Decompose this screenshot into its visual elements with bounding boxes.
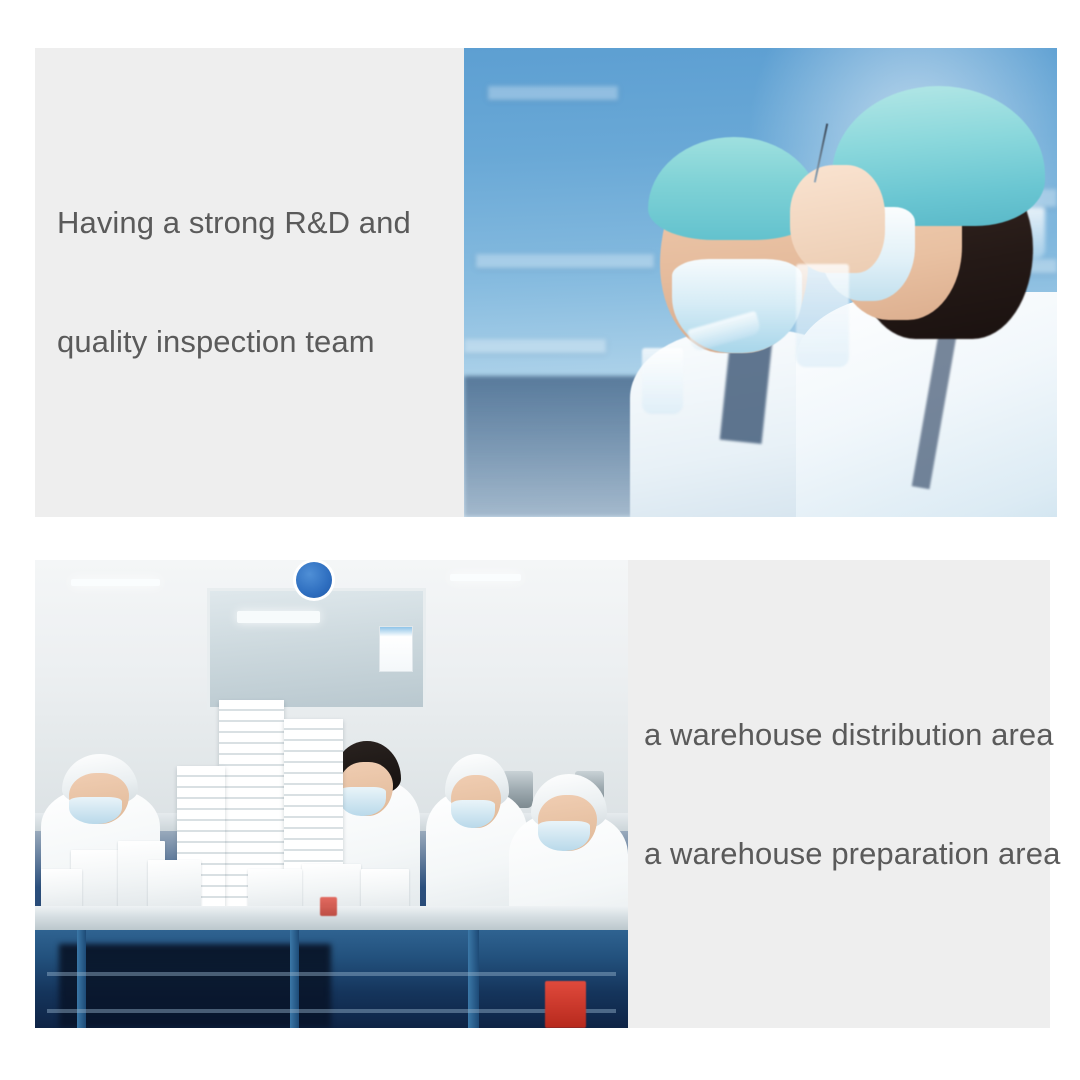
warehouse-caption-panel: a warehouse distribution area a warehous… [628, 560, 1050, 1028]
blue-circular-sign-icon [296, 562, 332, 598]
table-rail-lower [47, 1009, 616, 1013]
warehouse-caption-line-1: a warehouse distribution area [644, 715, 1060, 755]
ceiling-light-right [450, 574, 521, 581]
ceiling-light-left [71, 579, 160, 586]
warehouse-caption-text: a warehouse distribution area a warehous… [644, 635, 1060, 952]
lab-shelf-left-lower [464, 339, 606, 353]
rnd-caption-text: Having a strong R&D and quality inspecti… [57, 124, 411, 441]
rnd-caption-line-2: quality inspection team [57, 322, 411, 362]
warehouse-photo [35, 560, 628, 1028]
warehouse-caption-line-2: a warehouse preparation area [644, 834, 1060, 874]
poster-canvas: Having a strong R&D and quality inspecti… [0, 0, 1080, 1080]
table-rail-upper [47, 972, 616, 976]
lab-worker-right-gloved-hand [790, 165, 885, 273]
rnd-caption-panel: Having a strong R&D and quality inspecti… [35, 48, 464, 517]
lab-shelf-left [476, 254, 654, 268]
lab-bench-shadow [464, 376, 642, 517]
lab-ceiling-rail [488, 86, 618, 100]
wall-placard [379, 626, 413, 672]
rnd-caption-line-1: Having a strong R&D and [57, 203, 411, 243]
lab-beaker-left [642, 348, 684, 414]
red-item-center [320, 897, 338, 916]
red-item-right [545, 981, 587, 1028]
rnd-lab-photo [464, 48, 1057, 517]
lab-flask-center [796, 264, 849, 367]
warehouse-window-light [237, 611, 320, 623]
